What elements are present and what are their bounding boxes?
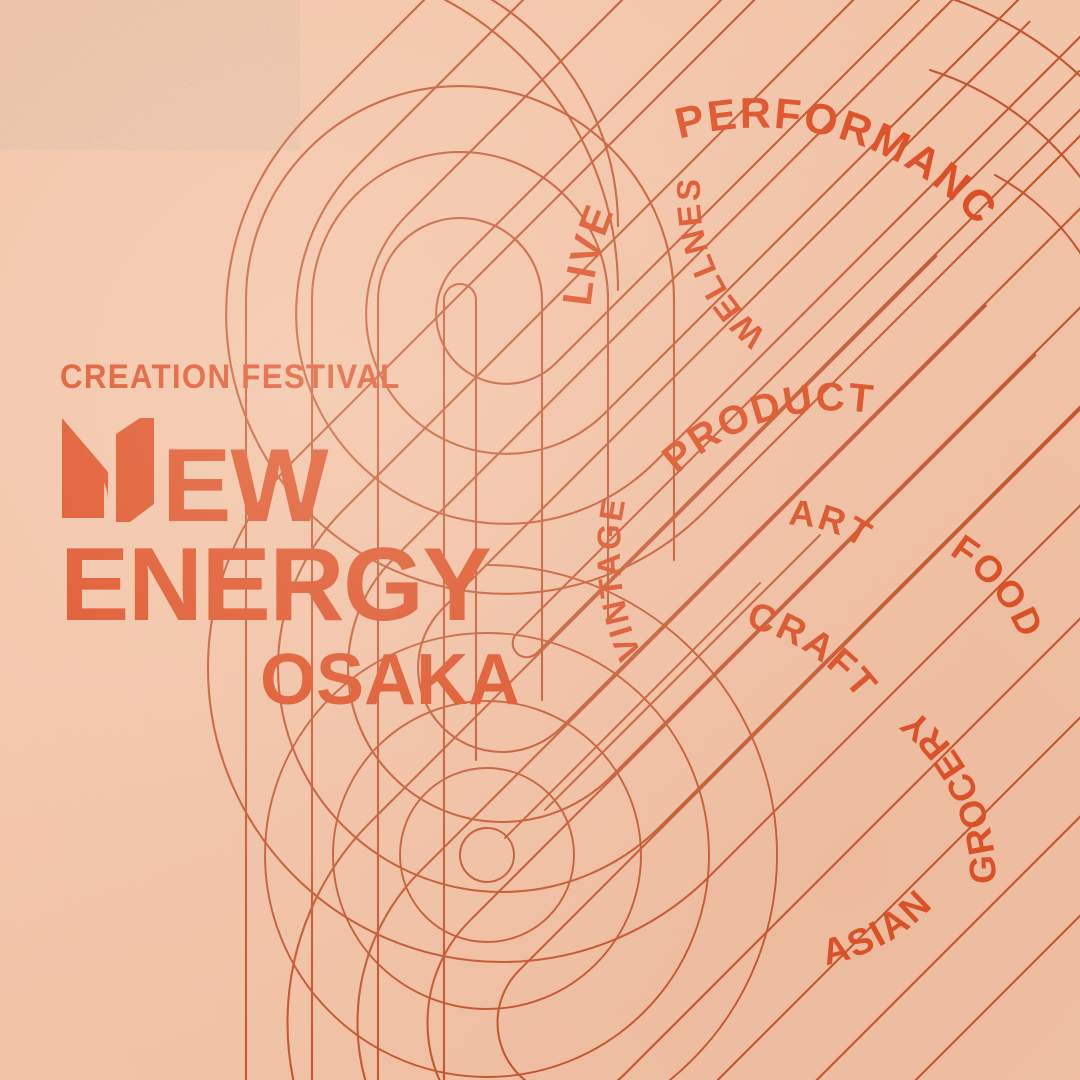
curved-word-product: PRODUCT xyxy=(654,375,877,481)
city-label: OSAKA xyxy=(60,644,530,716)
curved-word-grocery: GROCERY xyxy=(892,701,1004,884)
n-monogram-icon xyxy=(60,416,156,524)
title-line-new: EW xyxy=(60,416,530,524)
curved-word-art: ART xyxy=(787,491,880,555)
title-lockup: CREATION FESTIVAL EW ENERGY OSAKA xyxy=(60,360,530,716)
eyebrow-text: CREATION FESTIVAL xyxy=(60,360,492,394)
curved-word-food: FOOD xyxy=(944,527,1052,645)
curved-word-wellness: WELLNESS xyxy=(0,0,772,355)
title-line-energy: ENERGY xyxy=(60,538,530,634)
curved-word-performance: PERFORMANCE xyxy=(0,0,1007,235)
curved-word-craft: CRAFT xyxy=(743,595,886,707)
curved-word-asian: ASIAN xyxy=(818,881,941,973)
curved-word-live: LIVE xyxy=(554,197,623,308)
curved-word-vintage: VINTAGE xyxy=(590,494,648,666)
title-new-rest: EW xyxy=(162,445,328,528)
poster-canvas: .ln{fill:none;stroke:#C4552F;stroke-widt… xyxy=(0,0,1080,1080)
